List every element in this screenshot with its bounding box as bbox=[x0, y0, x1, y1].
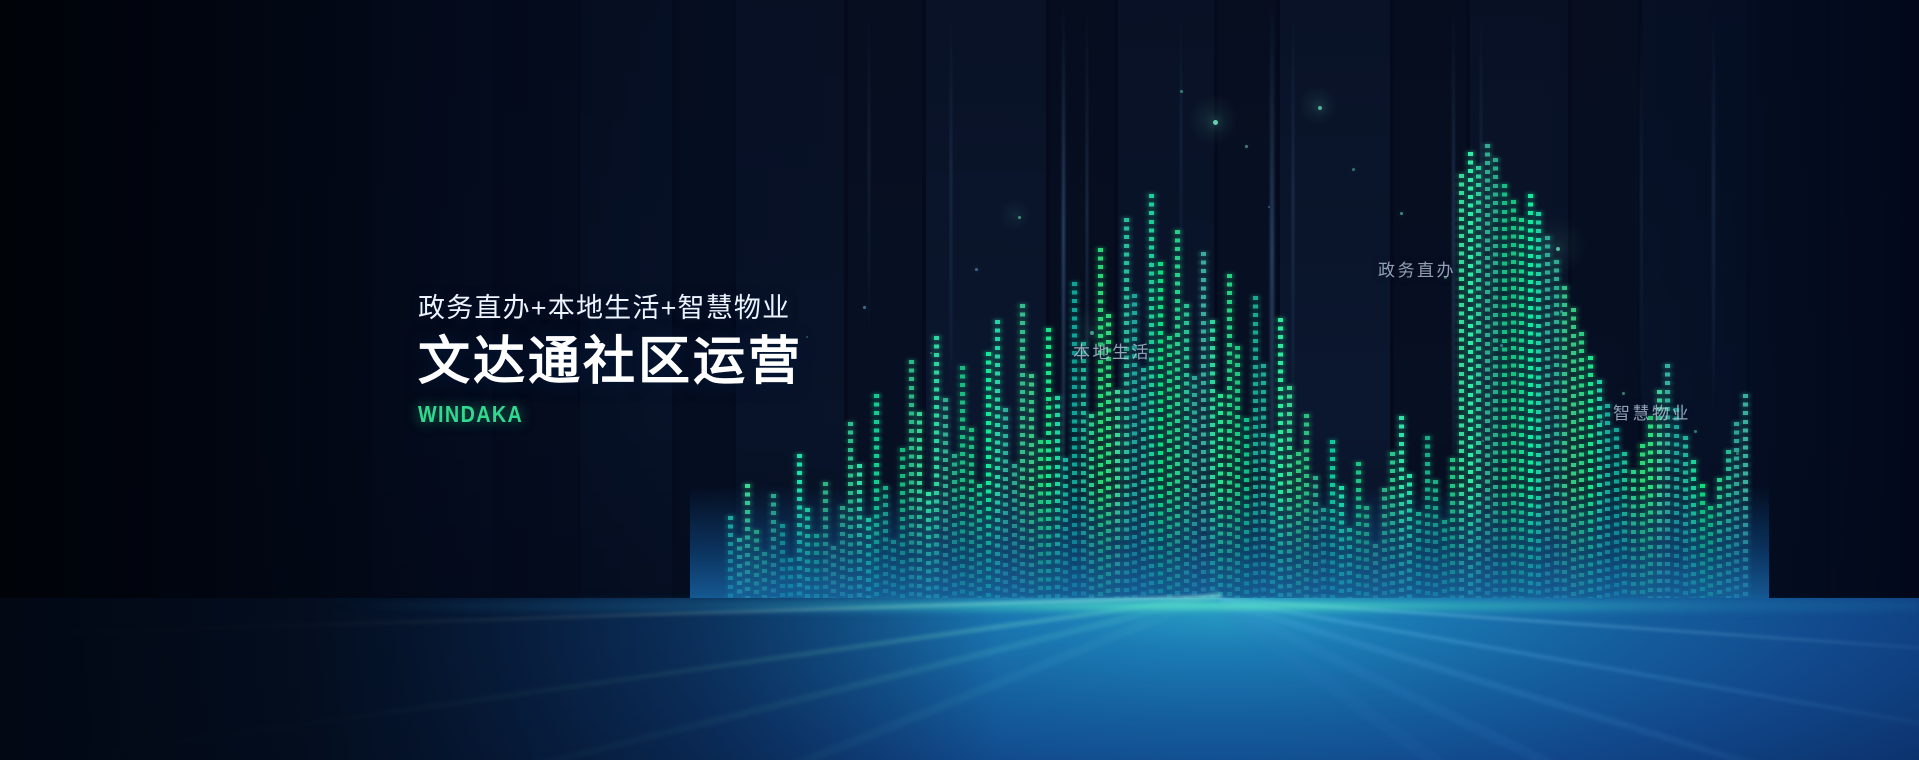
tag-label-2: 本地生活 bbox=[1073, 338, 1151, 363]
skyline-bar bbox=[1201, 252, 1206, 604]
skyline-bar bbox=[1407, 474, 1412, 604]
skyline-bar bbox=[1734, 422, 1739, 604]
skyline-bar bbox=[866, 518, 871, 604]
skyline-bar bbox=[1330, 440, 1335, 604]
tag-label-1: 政务直办 bbox=[1378, 256, 1456, 281]
skyline-bar bbox=[1605, 404, 1610, 604]
skyline-bar bbox=[754, 530, 759, 604]
skyline-bar bbox=[1373, 544, 1378, 604]
skyline-bar bbox=[1536, 212, 1541, 604]
skyline-bar bbox=[1442, 520, 1447, 604]
skyline-bar bbox=[900, 448, 905, 604]
skyline-bar bbox=[1339, 486, 1344, 604]
skyline-bar bbox=[1270, 434, 1275, 604]
skyline-bar bbox=[1192, 376, 1197, 604]
skyline-bar bbox=[977, 484, 982, 604]
ground-vignette-left bbox=[0, 598, 998, 760]
skyline-bar bbox=[1072, 282, 1077, 604]
skyline-bar bbox=[1571, 308, 1576, 604]
horizon-glow bbox=[0, 598, 1919, 614]
skyline-bar bbox=[1450, 458, 1455, 604]
skyline-bar bbox=[909, 360, 914, 604]
skyline-bar bbox=[1485, 144, 1490, 604]
skyline-bar bbox=[840, 506, 845, 604]
skyline-bar bbox=[1743, 394, 1748, 604]
skyline-bar bbox=[1579, 332, 1584, 604]
skyline-bar bbox=[943, 398, 948, 604]
skyline-bar bbox=[1321, 508, 1326, 604]
skyline-bar bbox=[1210, 320, 1215, 604]
skyline-bar bbox=[857, 464, 862, 604]
skyline-bar bbox=[1459, 174, 1464, 604]
tag-label-3: 智慧物业 bbox=[1613, 399, 1691, 424]
skyline-bar bbox=[1640, 444, 1645, 604]
skyline-bar bbox=[1089, 414, 1094, 604]
skyline-bar bbox=[823, 482, 828, 604]
skyline-bar bbox=[1614, 428, 1619, 604]
skyline-bar bbox=[926, 492, 931, 604]
skyline-bar bbox=[1683, 436, 1688, 604]
banner-root: 政务直办本地生活智慧物业 政务直办+本地生活+智慧物业 文达通社区运营 WIND… bbox=[0, 0, 1919, 760]
skyline-bar bbox=[1708, 506, 1713, 604]
skyline-bar bbox=[1588, 356, 1593, 604]
skyline-bar bbox=[1124, 218, 1129, 604]
brand-wordmark: WINDAKA bbox=[418, 401, 749, 428]
skyline-bar bbox=[1253, 296, 1258, 604]
perspective-ray bbox=[1220, 598, 1919, 744]
skyline-bar bbox=[1020, 304, 1025, 604]
skyline-bar bbox=[1717, 478, 1722, 604]
skyline-bar bbox=[1648, 416, 1653, 604]
skyline-bar bbox=[1493, 158, 1498, 604]
skyline-bar bbox=[1167, 336, 1172, 604]
skyline-bar bbox=[797, 454, 802, 604]
skyline-bar bbox=[1597, 380, 1602, 604]
skyline-bar bbox=[1158, 262, 1163, 604]
skyline-bar bbox=[917, 412, 922, 604]
skyline-bar bbox=[745, 484, 750, 604]
skyline-bar bbox=[728, 516, 733, 604]
headline-block: 政务直办+本地生活+智慧物业 文达通社区运营 WINDAKA bbox=[418, 292, 803, 428]
skyline-bar bbox=[874, 394, 879, 604]
skyline-bar bbox=[1674, 408, 1679, 604]
skyline-bar bbox=[1622, 452, 1627, 604]
skyline-bar bbox=[969, 428, 974, 604]
skyline-bar bbox=[737, 538, 742, 604]
skyline-bar bbox=[1046, 328, 1051, 604]
skyline-bar bbox=[1055, 396, 1060, 604]
skyline-bar bbox=[1098, 248, 1103, 604]
skyline-bar bbox=[1364, 506, 1369, 604]
skyline-bar bbox=[1012, 464, 1017, 604]
skyline-bar bbox=[1726, 450, 1731, 604]
skyline-bar bbox=[1175, 230, 1180, 604]
skyline-bar bbox=[1296, 452, 1301, 604]
skyline-bar bbox=[1425, 436, 1430, 604]
skyline-bar bbox=[1149, 194, 1154, 604]
skyline-bar bbox=[1476, 166, 1481, 604]
skyline-bar bbox=[1700, 484, 1705, 604]
skyline-bar bbox=[771, 494, 776, 604]
skyline-bar bbox=[1511, 200, 1516, 604]
skyline-bar bbox=[1184, 304, 1189, 604]
skyline-bar bbox=[1545, 236, 1550, 604]
banner-headline: 文达通社区运营 bbox=[418, 333, 803, 391]
skyline-bar bbox=[848, 422, 853, 604]
skyline-bar bbox=[1399, 416, 1404, 604]
skyline-bar bbox=[986, 352, 991, 604]
skyline-bar bbox=[995, 320, 1000, 604]
skyline-bar bbox=[814, 534, 819, 604]
skyline-bar bbox=[1691, 460, 1696, 604]
skyline-bar bbox=[1562, 286, 1567, 604]
skyline-bar bbox=[1347, 528, 1352, 604]
banner-subtitle: 政务直办+本地生活+智慧物业 bbox=[418, 292, 803, 324]
skyline-bar bbox=[952, 454, 957, 604]
skyline-bar bbox=[1502, 184, 1507, 604]
skyline-bar bbox=[1554, 260, 1559, 604]
skyline-bar bbox=[1304, 414, 1309, 604]
skyline-bar bbox=[1416, 512, 1421, 604]
skyline-bar bbox=[1433, 480, 1438, 604]
skyline-bar bbox=[1115, 390, 1120, 604]
skyline-bar bbox=[1261, 364, 1266, 604]
skyline-bar bbox=[1356, 462, 1361, 604]
skyline-bar bbox=[1528, 194, 1533, 604]
skyline-bar bbox=[1382, 488, 1387, 604]
skyline-bar bbox=[1063, 458, 1068, 604]
skyline-bar bbox=[1631, 470, 1636, 604]
skyline-bar bbox=[1313, 476, 1318, 604]
skyline-bar bbox=[762, 552, 767, 604]
skyline-bar bbox=[1519, 218, 1524, 604]
skyline-bar bbox=[1081, 342, 1086, 604]
skyline-bar bbox=[883, 486, 888, 604]
skyline-bar bbox=[1029, 374, 1034, 604]
skyline-bar bbox=[934, 336, 939, 604]
skyline-bar bbox=[1218, 394, 1223, 604]
skyline-bar bbox=[1227, 274, 1232, 604]
skyline-bar bbox=[780, 524, 785, 604]
skyline-bar bbox=[1235, 346, 1240, 604]
skyline-bar bbox=[831, 546, 836, 604]
skyline-bar bbox=[1390, 452, 1395, 604]
skyline-bar bbox=[1038, 440, 1043, 604]
skyline-bar bbox=[1468, 152, 1473, 604]
skyline-bar bbox=[1278, 318, 1283, 604]
skyline-bar bbox=[1141, 368, 1146, 604]
skyline-bar bbox=[805, 508, 810, 604]
skyline-bar bbox=[1287, 386, 1292, 604]
skyline-bar bbox=[891, 540, 896, 604]
skyline-bar bbox=[960, 366, 965, 604]
perspective-ray bbox=[1213, 598, 1835, 760]
skyline-bar bbox=[1244, 418, 1249, 604]
skyline-bar bbox=[1003, 408, 1008, 604]
